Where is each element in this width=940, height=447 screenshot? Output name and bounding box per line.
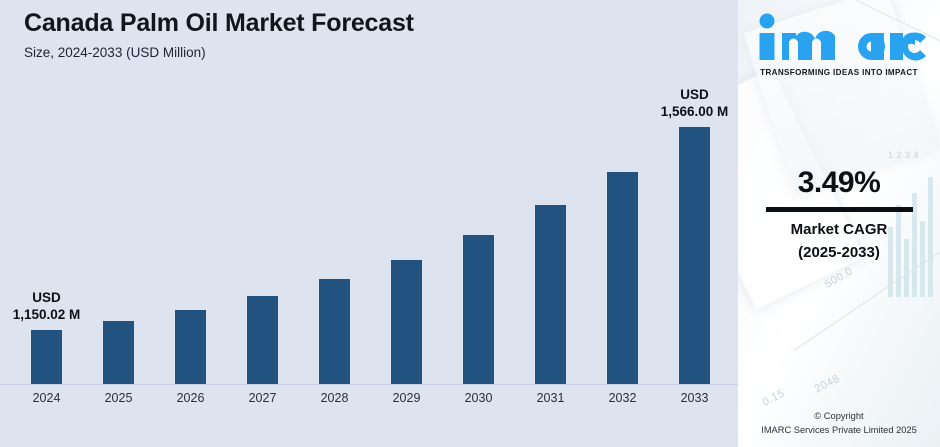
value-label-2033: USD 1,566.00 M	[635, 87, 755, 121]
bar-2025	[103, 321, 134, 384]
copyright-line-2: IMARC Services Private Limited 2025	[738, 424, 940, 438]
bar-2029	[391, 260, 422, 384]
x-axis-label-2033: 2033	[659, 391, 731, 405]
bar-2024	[31, 330, 62, 384]
copyright-line-1: © Copyright	[738, 410, 940, 424]
brand-side-panel: 500.0 0.15 2048 1 2 3 4 TRANSFORMING IDE…	[738, 0, 940, 447]
x-axis-label-2032: 2032	[587, 391, 659, 405]
copyright-notice: © Copyright IMARC Services Private Limit…	[738, 410, 940, 438]
bar-plot-area: 2024202520262027202820292030203120322033	[0, 0, 738, 447]
x-axis-label-2030: 2030	[443, 391, 515, 405]
x-axis-label-2031: 2031	[515, 391, 587, 405]
chart-screenshot: Canada Palm Oil Market Forecast Size, 20…	[0, 0, 940, 447]
x-axis-label-2027: 2027	[227, 391, 299, 405]
background-number: 1 2 3 4	[888, 150, 919, 160]
x-axis-label-2024: 2024	[11, 391, 83, 405]
background-number: 500.0	[823, 265, 855, 290]
bar-2028	[319, 279, 350, 384]
axis-baseline	[0, 384, 738, 385]
bar-2027	[247, 296, 278, 384]
x-axis-label-2028: 2028	[299, 391, 371, 405]
x-axis-label-2029: 2029	[371, 391, 443, 405]
cagr-block: 3.49% Market CAGR (2025-2033)	[738, 168, 940, 263]
value-label-2024: USD 1,150.02 M	[0, 290, 107, 324]
bar-2026	[175, 310, 206, 384]
cagr-value: 3.49%	[738, 168, 940, 198]
x-axis-label-2025: 2025	[83, 391, 155, 405]
cagr-period: (2025-2033)	[738, 242, 940, 263]
bar-2032	[607, 172, 638, 384]
imarc-wordmark-icon	[750, 10, 928, 66]
background-number: 2048	[813, 373, 842, 396]
imarc-tagline: TRANSFORMING IDEAS INTO IMPACT	[738, 68, 940, 77]
value-label-2033-amount: 1,566.00 M	[661, 104, 729, 119]
bar-2031	[535, 205, 566, 384]
x-axis-label-2026: 2026	[155, 391, 227, 405]
cagr-label: Market CAGR	[738, 219, 940, 242]
imarc-logo: TRANSFORMING IDEAS INTO IMPACT	[738, 10, 940, 77]
bar-2030	[463, 235, 494, 384]
background-number: 0.15	[761, 387, 787, 408]
value-label-2024-currency: USD	[32, 290, 61, 305]
bar-2033	[679, 127, 710, 384]
cagr-divider	[766, 207, 913, 212]
background-line	[793, 250, 940, 351]
value-label-2024-amount: 1,150.02 M	[13, 307, 81, 322]
value-label-2033-currency: USD	[680, 87, 709, 102]
chart-panel: Canada Palm Oil Market Forecast Size, 20…	[0, 0, 738, 447]
